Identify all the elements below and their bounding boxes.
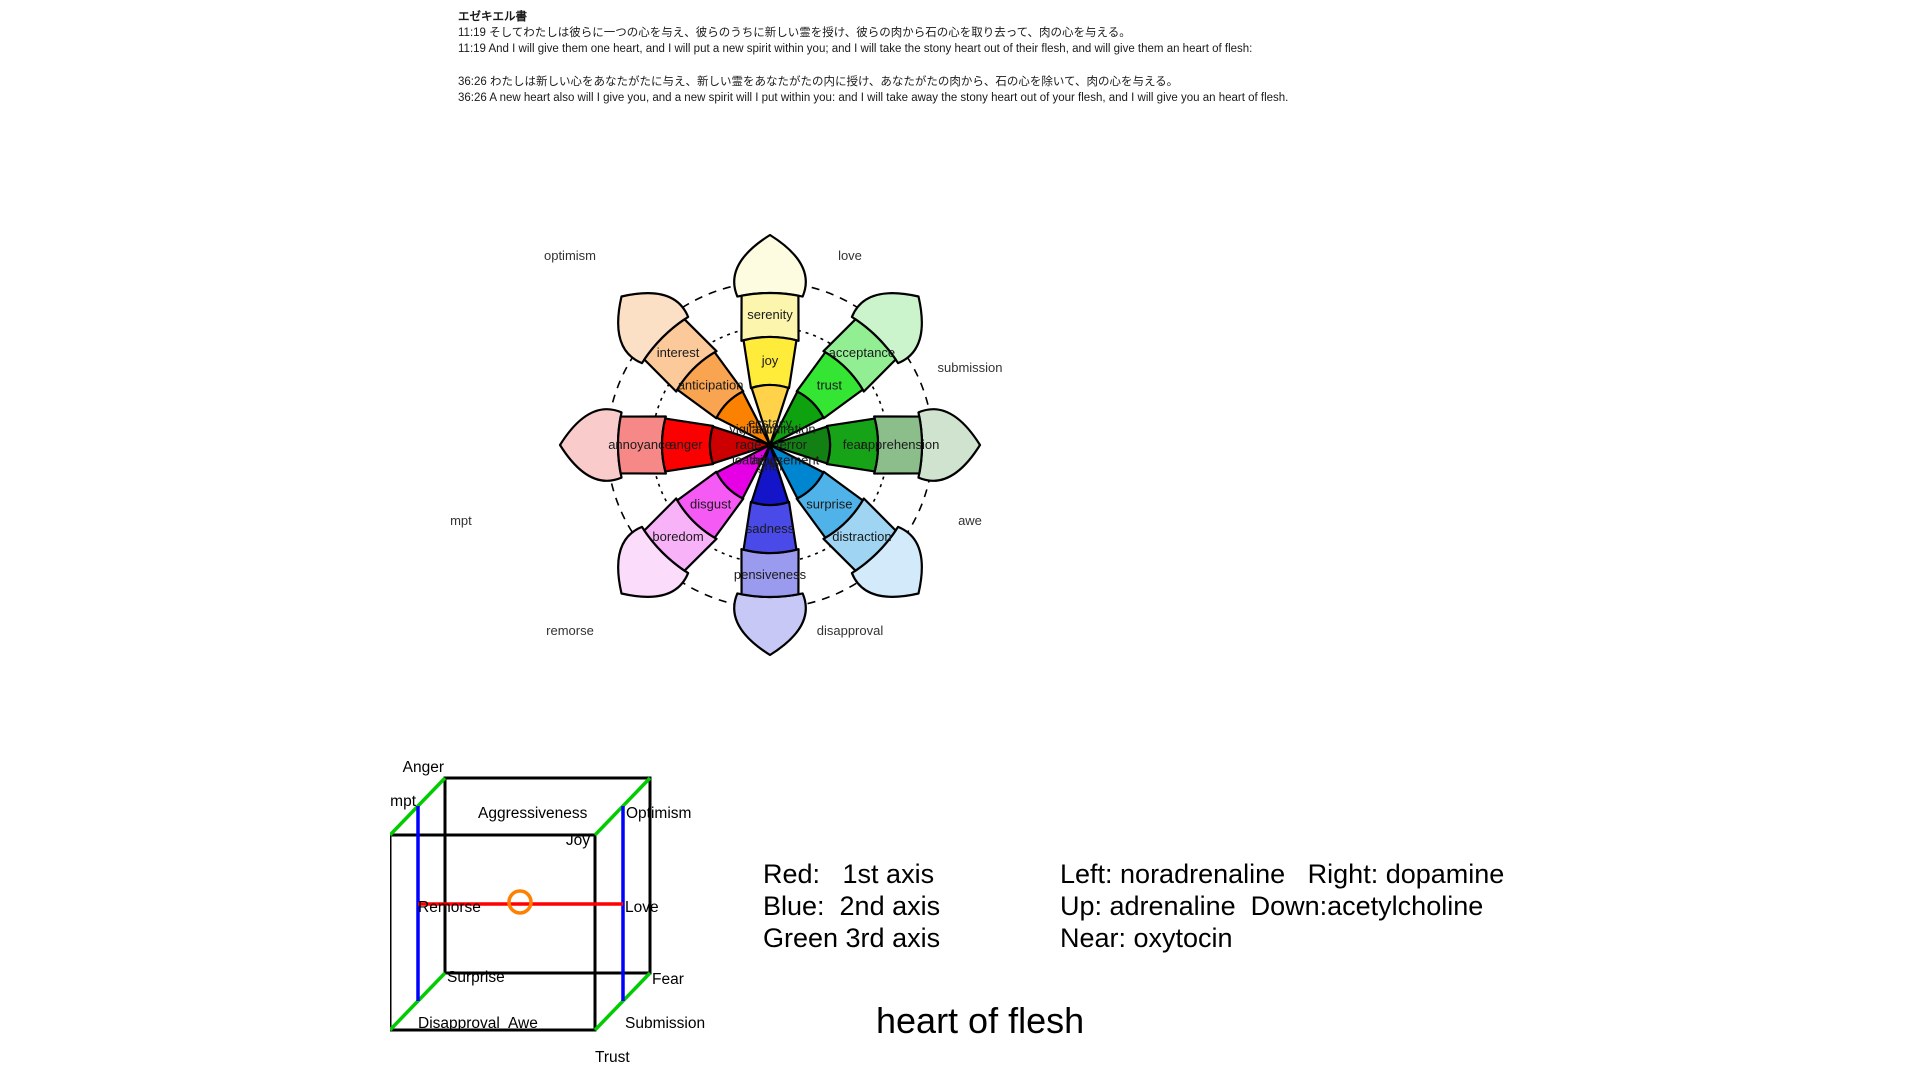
anger-petal-label-2: annoyance (608, 437, 672, 452)
anticipation-petal-label-2: interest (657, 345, 700, 360)
cube-vertex-disapproval: Disapproval (418, 1015, 500, 1032)
joy-petal-label-2: serenity (747, 307, 793, 322)
cube-vertex-awe: Awe (508, 1015, 538, 1032)
anticipation-petal-label-1: anticipation (678, 378, 744, 393)
cube-vertex-trust: Trust (595, 1049, 630, 1066)
legend-neuro-red: Left: noradrenaline Right: dopamine (1060, 858, 1504, 890)
trust-petal-label-2: acceptance (829, 345, 896, 360)
scripture-verse-jp-2: 36:26 わたしは新しい心をあなたがたに与え、新しい霊をあなたがたの内に授け、… (458, 74, 1518, 90)
axis-legend: Red: 1st axis Left: noradrenaline Right:… (763, 858, 1504, 954)
legend-axis-green: Green 3rd axis (763, 922, 1060, 954)
cube-vertex-love: Love (625, 899, 659, 916)
legend-axis-red: Red: 1st axis (763, 858, 1060, 890)
scripture-verse-en-2: 36:26 A new heart also will I give you, … (458, 90, 1518, 106)
anticipation-petal-label-0: vigilance (729, 422, 780, 437)
scripture-verse-jp-1: 11:19 そしてわたしは彼らに一つの心を与え、彼らのうちに新しい霊を授け、彼ら… (458, 25, 1518, 41)
wheel-dyad-love: love (838, 248, 862, 263)
cube-vertex-contempt: Contempt (390, 793, 417, 810)
wheel-dyad-disapproval: disapproval (817, 623, 884, 638)
scripture-book-title: エゼキエル書 (458, 9, 1518, 25)
axis-legend-table: Red: 1st axis Left: noradrenaline Right:… (763, 858, 1504, 954)
cube-vertex-surprise: Surprise (447, 969, 505, 986)
cube-vertex-fear: Fear (652, 971, 684, 988)
legend-neuro-green: Near: oxytocin (1060, 922, 1504, 954)
wheel-dyad-submission: submission (937, 360, 1002, 375)
surprise-petal-label-1: surprise (806, 496, 852, 511)
disgust-petal-label-1: disgust (690, 496, 732, 511)
scripture-verse-en-1: 11:19 And I will give them one heart, an… (458, 41, 1518, 57)
legend-neuro-blue: Up: adrenaline Down:acetylcholine (1060, 890, 1504, 922)
wheel-dyad-remorse: remorse (546, 623, 594, 638)
fear-petal-label-2: apprehension (861, 437, 940, 452)
cube-vertex-anger: Anger (403, 760, 444, 776)
legend-axis-blue: Blue: 2nd axis (763, 890, 1060, 922)
cube-center-marker (509, 891, 531, 913)
disgust-petal-label-0: loathing (732, 452, 778, 467)
wheel-dyad-contempt: contempt (450, 513, 472, 528)
scripture-spacer (458, 58, 1518, 74)
tagline: heart of flesh (876, 1000, 1084, 1042)
trust-petal-label-1: trust (817, 378, 843, 393)
wheel-dyad-optimism: optimism (544, 248, 596, 263)
cube-vertex-remorse: Remorse (418, 899, 481, 916)
legend-row: Green 3rd axis Near: oxytocin (763, 922, 1504, 954)
cube-vertex-joy: Joy (566, 832, 590, 849)
surprise-petal-label-2: distraction (832, 529, 891, 544)
cube-vertex-labels: AngerContemptDisgustAggressivenessOptimi… (390, 760, 705, 1066)
cube-vertex-aggressiveness: Aggressiveness (478, 805, 588, 822)
legend-row: Red: 1st axis Left: noradrenaline Right:… (763, 858, 1504, 890)
cube-vertex-optimism: Optimism (626, 805, 691, 822)
fear-petal-label-0: terror (776, 437, 808, 452)
sadness-petal-label-1: sadness (746, 521, 795, 536)
anger-petal-label-0: rage (735, 437, 761, 452)
legend-row: Blue: 2nd axis Up: adrenaline Down:acety… (763, 890, 1504, 922)
emotion-cube-svg: AngerContemptDisgustAggressivenessOptimi… (390, 760, 790, 1070)
cube-vertex-submission: Submission (625, 1015, 705, 1032)
plutchik-wheel-svg: ecstacyjoyserenityadmirationtrustaccepta… (450, 130, 1090, 770)
wheel-dyad-awe: awe (958, 513, 982, 528)
disgust-petal-label-2: boredom (652, 529, 703, 544)
cube-front-face (390, 835, 595, 1030)
scripture-block: エゼキエル書 11:19 そしてわたしは彼らに一つの心を与え、彼らのうちに新しい… (458, 9, 1518, 106)
anger-petal-label-1: anger (669, 437, 703, 452)
sadness-petal-band-3[interactable] (734, 593, 806, 655)
joy-petal-band-3[interactable] (734, 235, 806, 297)
plutchik-wheel: ecstacyjoyserenityadmirationtrustaccepta… (450, 130, 1090, 770)
emotion-cube: AngerContemptDisgustAggressivenessOptimi… (390, 760, 790, 1070)
sadness-petal-label-2: pensiveness (734, 567, 807, 582)
joy-petal-label-1: joy (761, 353, 779, 368)
